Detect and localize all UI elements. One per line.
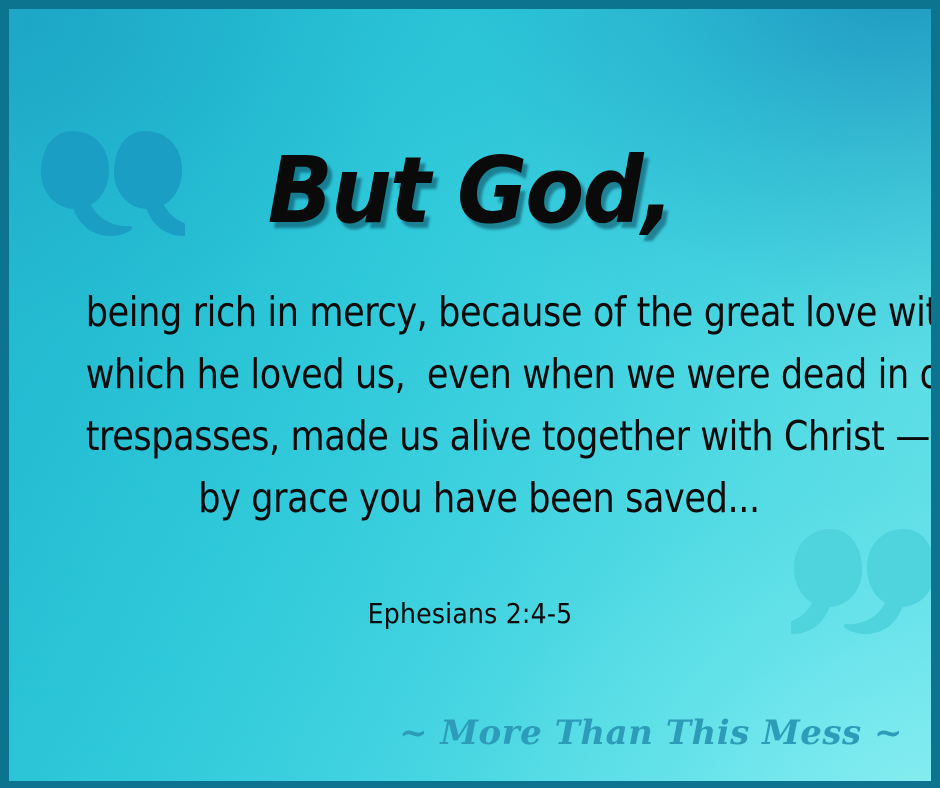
quote-content: But God, being rich in mercy, because of… <box>9 9 931 781</box>
quote-card: But God, being rich in mercy, because of… <box>0 0 940 788</box>
quote-headline: But God, <box>41 145 898 237</box>
brand-signature: ~ More Than This Mess ~ <box>399 713 903 753</box>
verse-line: trespasses, made us alive together with … <box>86 405 873 467</box>
verse-citation: Ephesians 2:4-5 <box>9 597 931 630</box>
verse-line: being rich in mercy, because of the grea… <box>86 281 873 343</box>
verse-body: being rich in mercy, because of the grea… <box>65 281 893 529</box>
verse-line: by grace you have been saved... <box>86 467 873 529</box>
verse-line: which he loved us, even when we were dea… <box>86 343 873 405</box>
